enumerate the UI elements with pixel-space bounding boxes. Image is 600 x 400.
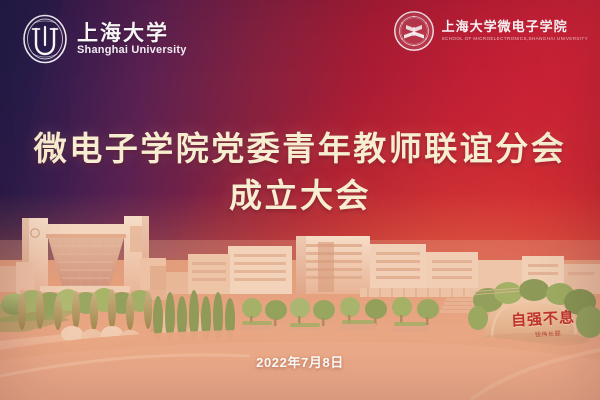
shu-chinese-name: 上海大学: [77, 22, 187, 44]
event-poster: 上海大学 Shanghai University: [0, 0, 600, 400]
shanghai-university-logo: 上海大学 Shanghai University: [22, 14, 187, 64]
school-of-microelectronics-seal: [393, 10, 435, 52]
event-date: 2022年7月8日: [0, 352, 600, 371]
microelectronics-english-name: SCHOOL OF MICROELECTRONICS,SHANGHAI UNIV…: [442, 37, 588, 42]
school-of-microelectronics-logo: 上海大学微电子学院 SCHOOL OF MICROELECTRONICS,SHA…: [393, 10, 588, 52]
shu-english-name: Shanghai University: [77, 45, 187, 56]
microelectronics-chinese-name: 上海大学微电子学院: [442, 21, 588, 35]
shanghai-university-emblem: [22, 14, 68, 64]
